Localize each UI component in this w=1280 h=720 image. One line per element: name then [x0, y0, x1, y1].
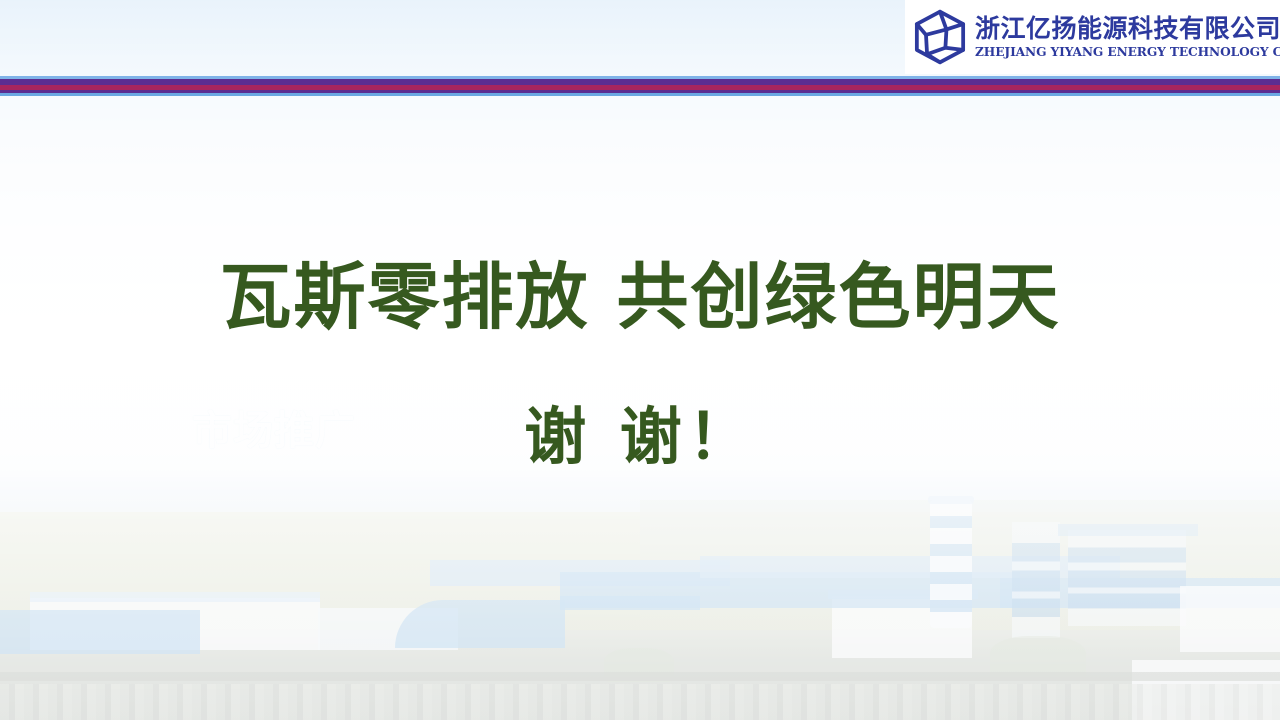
- factory-roof-b: [560, 572, 1020, 608]
- storage-hall-left: [0, 610, 200, 654]
- company-name-en: ZHEJIANG YIYANG ENERGY TECHNOLOGY CO., L…: [975, 45, 1280, 60]
- arched-hall-roof: [395, 600, 565, 648]
- plant-building-left: [30, 598, 320, 650]
- tree-clump-right: [990, 636, 1086, 680]
- ground-region: [0, 630, 1280, 720]
- cooling-tower-cap: [928, 496, 974, 504]
- office-building: [832, 596, 972, 658]
- divider-bottom-edge: [0, 93, 1280, 96]
- stack-structure: [1012, 522, 1060, 638]
- hexagon-gem-logo-icon: [913, 9, 967, 65]
- slide-headline: 瓦斯零排放 共创绿色明天: [0, 258, 1280, 337]
- factory-roof-d: [1000, 578, 1280, 608]
- company-name-block: 浙江亿扬能源科技有限公司 ZHEJIANG YIYANG ENERGY TECH…: [975, 15, 1280, 60]
- process-block-roof: [1058, 524, 1198, 536]
- factory-roof-c: [700, 556, 1120, 578]
- field-region: [0, 512, 1280, 642]
- conveyor-bridge: [560, 596, 700, 610]
- horizon-haze: [0, 470, 1280, 530]
- storage-yard: [0, 684, 1280, 720]
- right-building-lower: [1132, 660, 1280, 720]
- presentation-slide: 浙江亿扬能源科技有限公司 ZHEJIANG YIYANG ENERGY TECH…: [0, 0, 1280, 720]
- slide-thanks-text: 谢 谢！: [0, 400, 1280, 474]
- plant-building-left-2: [318, 608, 458, 650]
- tree-clump-center: [604, 648, 674, 682]
- company-name-cn: 浙江亿扬能源科技有限公司: [975, 15, 1280, 43]
- header-divider-bar: [0, 76, 1280, 96]
- right-building: [1180, 586, 1280, 652]
- office-roof: [828, 590, 978, 599]
- plant-roof-left: [30, 592, 320, 602]
- field-region-right: [640, 500, 1280, 620]
- company-logo-plate: 浙江亿扬能源科技有限公司 ZHEJIANG YIYANG ENERGY TECH…: [905, 0, 1280, 74]
- background-photo: [0, 0, 1280, 720]
- process-block: [1068, 530, 1186, 626]
- cooling-tower: [930, 500, 972, 628]
- factory-roof-a: [430, 560, 730, 586]
- photo-fade-overlay: [0, 0, 1280, 720]
- rail-line: [0, 672, 1280, 681]
